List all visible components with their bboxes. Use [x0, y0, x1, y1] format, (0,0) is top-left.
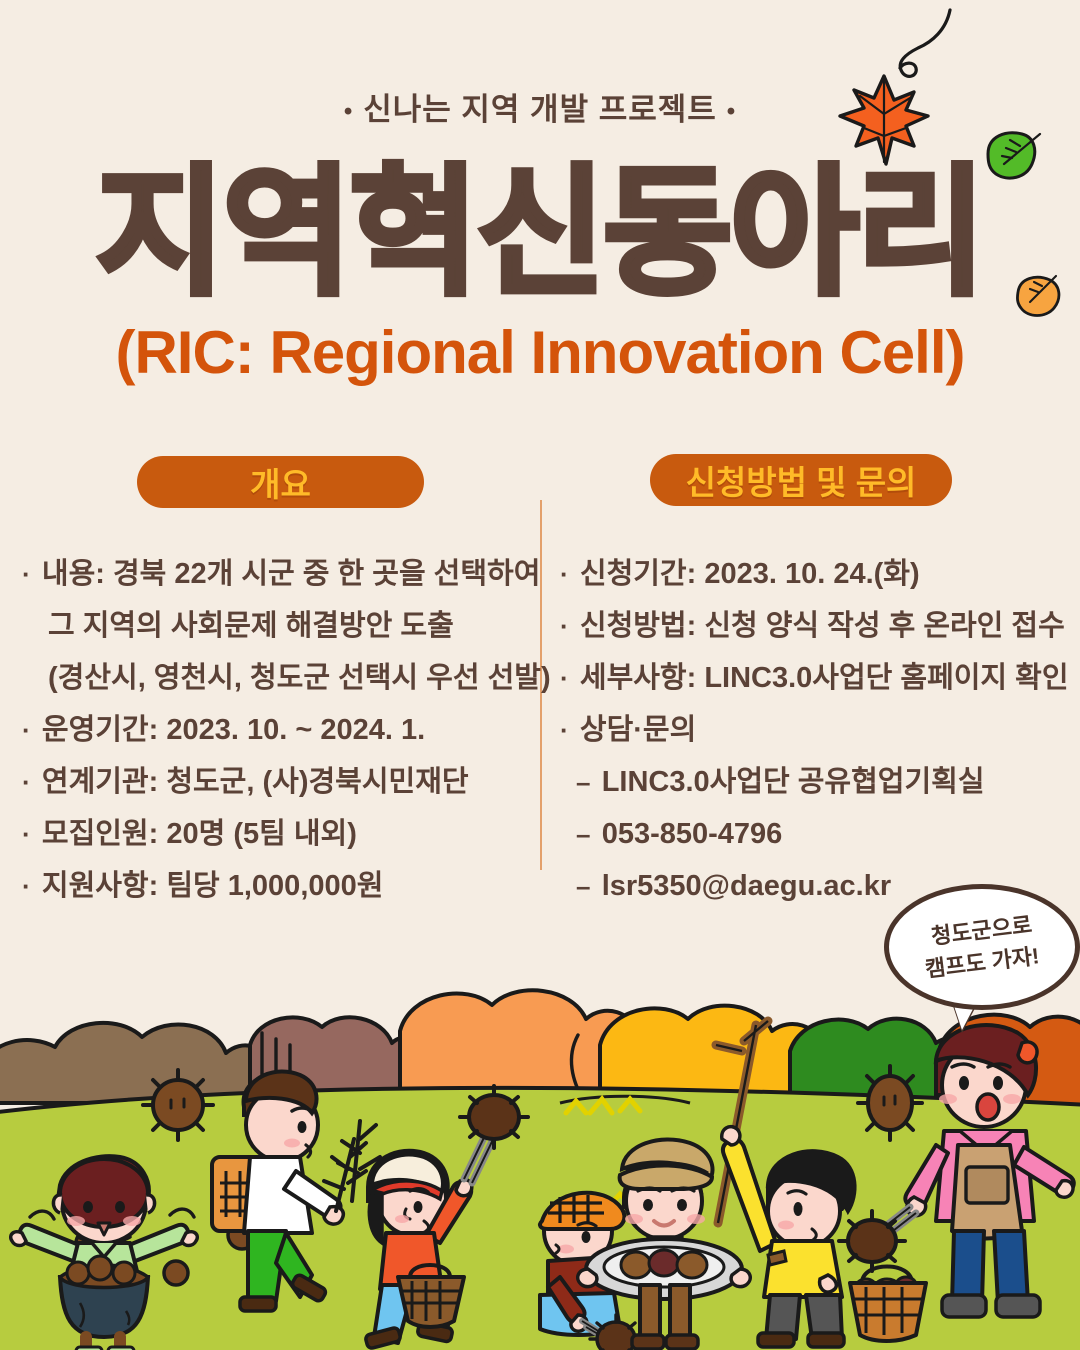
eyebrow-dot-left: • [334, 98, 363, 125]
speech-bubble: 청도군으로 캠프도 가자! [884, 884, 1080, 1010]
apply-bullet-4: · [560, 715, 580, 745]
illustration-svg [0, 985, 1080, 1350]
overview-text-4: 운영기간: 2023. 10. ~ 2024. 1. [42, 714, 425, 746]
apply-text-2: 신청방법: 신청 양식 작성 후 온라인 접수 [580, 610, 1065, 642]
overview-text-5: 연계기관: 청도군, (사)경북시민재단 [42, 766, 469, 798]
apply-bullet-5: – [576, 767, 602, 797]
autumn-illustration [0, 985, 1080, 1350]
apply-line-4: · 상담·문의 [560, 704, 1060, 756]
apply-column: · 신청기간: 2023. 10. 24.(화)· 신청방법: 신청 양식 작성… [560, 548, 1060, 912]
section-badge-apply: 신청방법 및 문의 [650, 454, 952, 506]
apply-text-6: 053-850-4796 [602, 818, 783, 850]
poster-root: •신나는 지역 개발 프로젝트• 지역혁신동아리 (RIC: Regional … [0, 0, 1080, 1350]
apply-line-1: · 신청기간: 2023. 10. 24.(화) [560, 548, 1060, 600]
overview-text-7: 지원사항: 팀당 1,000,000원 [42, 870, 384, 902]
overview-text-6: 모집인원: 20명 (5팀 내외) [42, 818, 357, 850]
apply-line-6: – 053-850-4796 [560, 808, 1060, 860]
eyebrow-text: 신나는 지역 개발 프로젝트 [363, 92, 717, 127]
overview-line-6: · 모집인원: 20명 (5팀 내외) [22, 808, 534, 860]
apply-line-3: · 세부사항: LINC3.0사업단 홈페이지 확인 [560, 652, 1060, 704]
overview-bullet-5: · [22, 767, 42, 797]
apply-text-7: lsr5350@daegu.ac.kr [602, 870, 891, 902]
apply-bullet-1: · [560, 559, 580, 589]
overview-bullet-4: · [22, 715, 42, 745]
overview-bullet-7: · [22, 871, 42, 901]
overview-line-2: 그 지역의 사회문제 해결방안 도출 [22, 600, 534, 652]
apply-line-5: – LINC3.0사업단 공유협업기획실 [560, 756, 1060, 808]
apply-text-3: 세부사항: LINC3.0사업단 홈페이지 확인 [580, 662, 1069, 694]
apply-line-2: · 신청방법: 신청 양식 작성 후 온라인 접수 [560, 600, 1060, 652]
overview-line-5: · 연계기관: 청도군, (사)경북시민재단 [22, 756, 534, 808]
overview-column: · 내용: 경북 22개 시군 중 한 곳을 선택하여그 지역의 사회문제 해결… [22, 548, 534, 912]
overview-bullet-1: · [22, 559, 42, 589]
apply-text-5: LINC3.0사업단 공유협업기획실 [602, 766, 985, 798]
overview-text-2: 그 지역의 사회문제 해결방안 도출 [48, 610, 454, 642]
section-badge-overview: 개요 [137, 456, 424, 508]
apply-text-4: 상담·문의 [580, 714, 696, 746]
apply-text-1: 신청기간: 2023. 10. 24.(화) [580, 558, 920, 590]
overview-line-1: · 내용: 경북 22개 시군 중 한 곳을 선택하여 [22, 548, 534, 600]
overview-line-3: (경산시, 영천시, 청도군 선택시 우선 선발) [22, 652, 534, 704]
poster-eyebrow: •신나는 지역 개발 프로젝트• [0, 84, 1080, 129]
apply-bullet-7: – [576, 871, 602, 901]
overview-text-1: 내용: 경북 22개 시군 중 한 곳을 선택하여 [42, 558, 541, 590]
apply-bullet-3: · [560, 663, 580, 693]
eyebrow-dot-right: • [717, 98, 746, 125]
poster-title: 지역혁신동아리 [0, 150, 1080, 315]
overview-bullet-6: · [22, 819, 42, 849]
overview-line-7: · 지원사항: 팀당 1,000,000원 [22, 860, 534, 912]
apply-bullet-6: – [576, 819, 602, 849]
overview-text-3: (경산시, 영천시, 청도군 선택시 우선 선발) [48, 662, 551, 694]
poster-subtitle: (RIC: Regional Innovation Cell) [0, 318, 1080, 387]
overview-line-4: · 운영기간: 2023. 10. ~ 2024. 1. [22, 704, 534, 756]
apply-bullet-2: · [560, 611, 580, 641]
